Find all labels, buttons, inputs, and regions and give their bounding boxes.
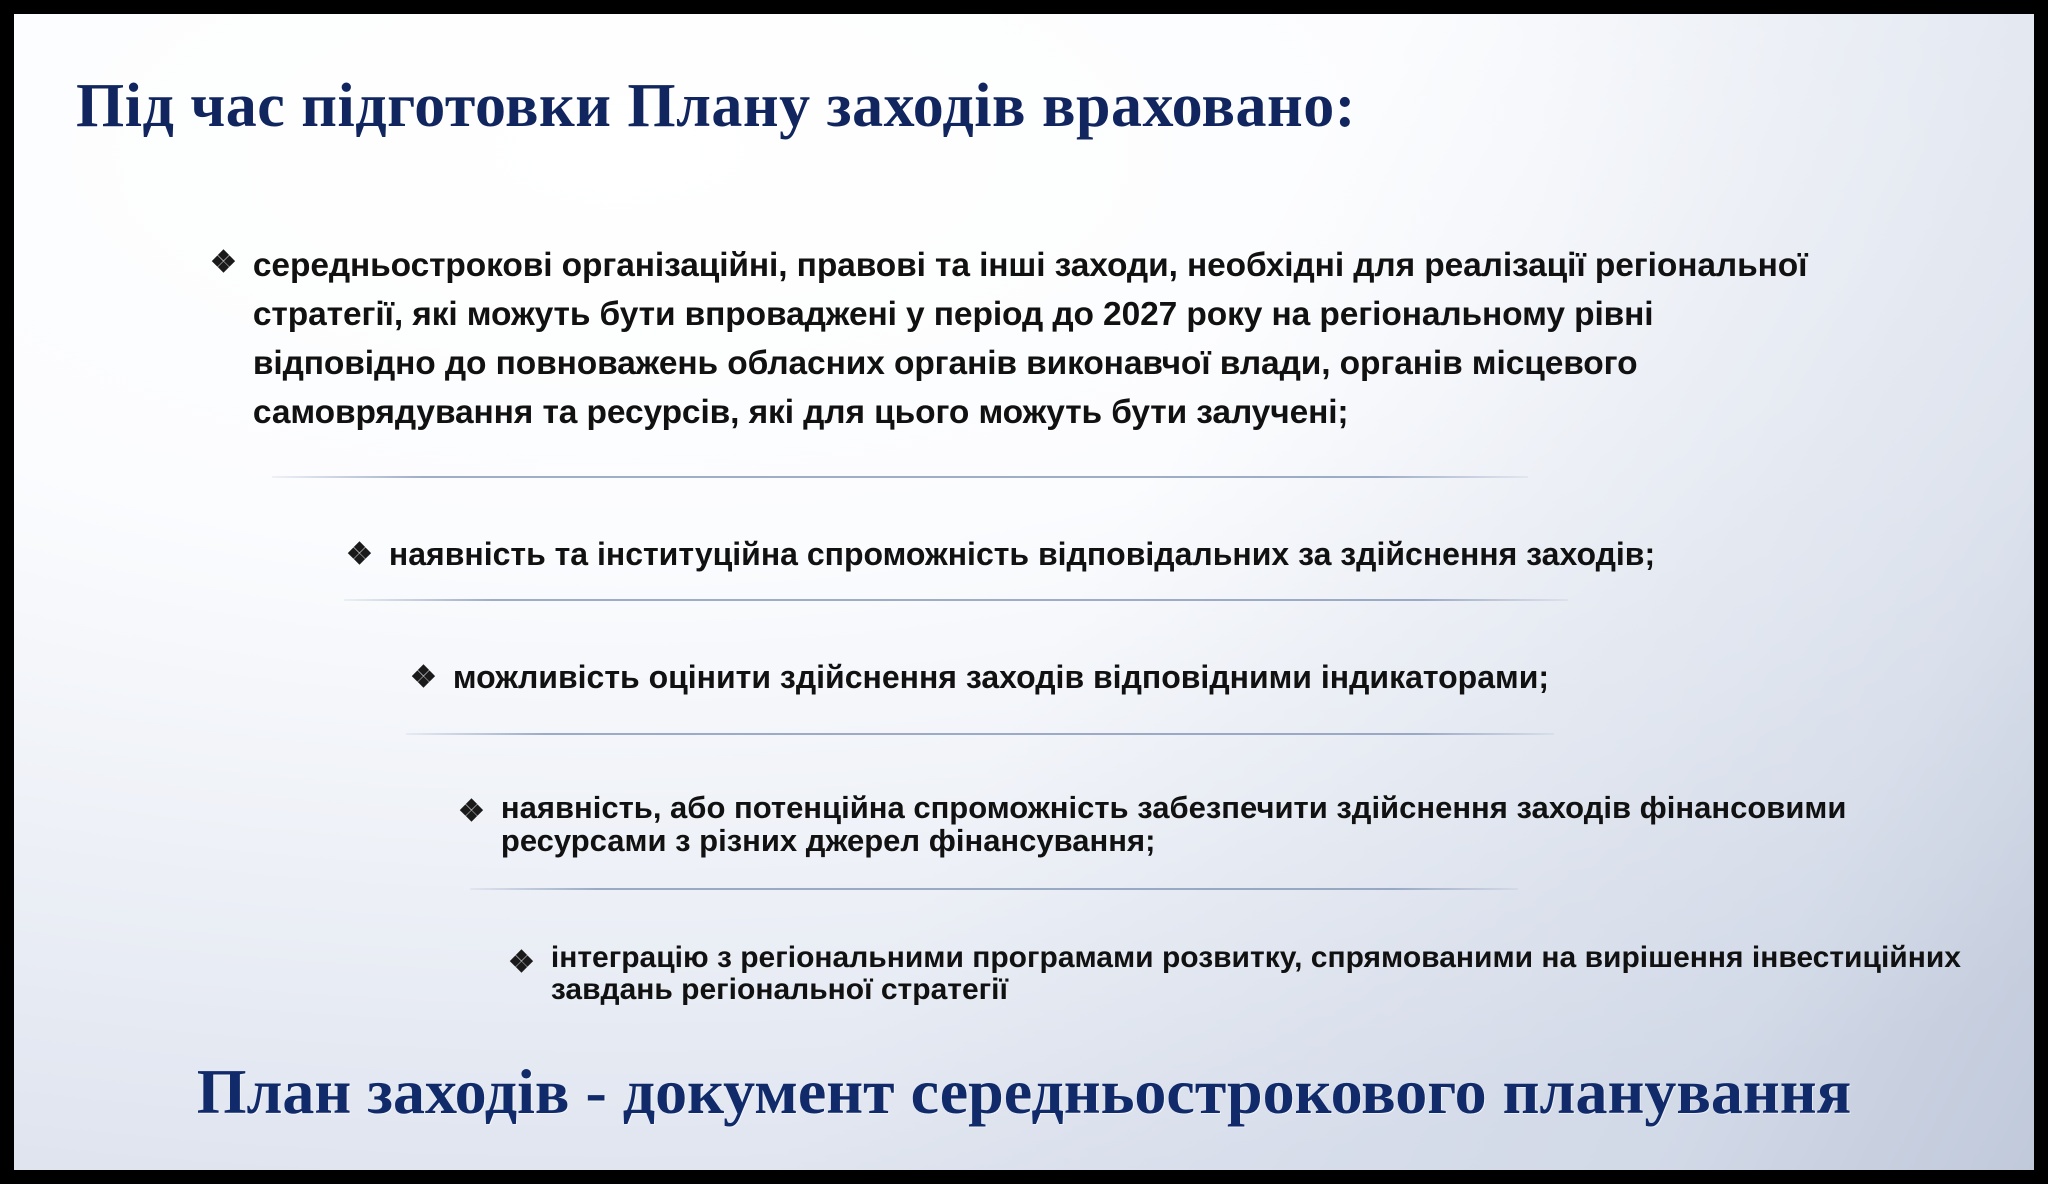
list-item: ❖ наявність, або потенційна спроможність… (458, 791, 1978, 858)
bullet-text-financial-resources: наявність, або потенційна спроможність з… (501, 791, 1978, 858)
diamond-bullet-icon: ❖ (410, 659, 437, 697)
divider-2 (344, 599, 1568, 601)
diamond-bullet-icon: ❖ (210, 244, 237, 282)
bullet-list: ❖ середньострокові організаційні, правов… (14, 242, 2034, 1007)
divider-1 (272, 476, 1528, 478)
diamond-bullet-icon: ❖ (346, 536, 373, 574)
bullet-text-integration-programs: інтеграцію з регіональними програмами ро… (551, 942, 1988, 1007)
page-title: Під час підготовки Плану заходів врахова… (76, 74, 1356, 139)
footer-statement: План заходів - документ середньостроково… (14, 1058, 2034, 1126)
slide-canvas: Під час підготовки Плану заходів врахова… (14, 14, 2034, 1170)
list-item: ❖ інтеграцію з регіональними програмами … (508, 942, 1988, 1007)
list-item: ❖ середньострокові організаційні, правов… (210, 242, 1830, 438)
bullet-text-institutional-capacity: наявність та інституційна спроможність в… (389, 534, 1946, 576)
list-item: ❖ можливість оцінити здійснення заходів … (410, 657, 1950, 699)
divider-4 (470, 888, 1518, 890)
divider-3 (406, 733, 1554, 735)
list-item: ❖ наявність та інституційна спроможність… (346, 534, 1946, 576)
diamond-bullet-icon: ❖ (508, 944, 535, 982)
diamond-bullet-icon: ❖ (458, 793, 485, 831)
bullet-text-midterm-measures: середньострокові організаційні, правові … (253, 242, 1830, 438)
slide-frame: Під час підготовки Плану заходів врахова… (0, 0, 2048, 1184)
bullet-text-indicators: можливість оцінити здійснення заходів ві… (453, 657, 1950, 699)
slide-content: Під час підготовки Плану заходів врахова… (14, 14, 2034, 1170)
